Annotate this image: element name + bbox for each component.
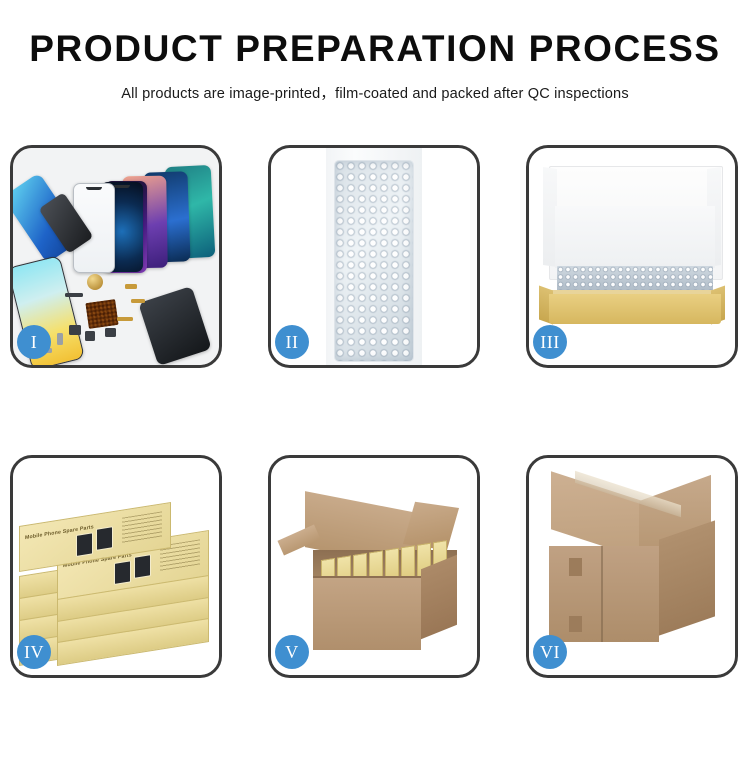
carton-tab-upper-icon <box>569 558 582 576</box>
step-badge-4: IV <box>17 635 51 669</box>
phone-back-housing-icon <box>138 286 212 365</box>
step-badge-5: V <box>275 635 309 669</box>
product-preparation-infographic: PRODUCT PREPARATION PROCESS All products… <box>0 0 750 750</box>
camera-module-icon <box>69 325 81 335</box>
flex-cable-icon <box>131 299 145 303</box>
process-step-panel-2: II <box>268 145 480 368</box>
button-part-icon <box>85 331 95 341</box>
box-front-panel-icon <box>549 294 721 324</box>
process-step-panel-3: III <box>526 145 738 368</box>
process-step-panel-6: VI <box>526 455 738 678</box>
process-step-panel-4: Mobile Phone Spare Parts Mobile Phone Sp… <box>10 455 222 678</box>
connector-icon <box>117 317 133 321</box>
page-title: PRODUCT PREPARATION PROCESS <box>0 30 750 69</box>
process-step-panel-5: V <box>268 455 480 678</box>
process-row-bottom: Mobile Phone Spare Parts Mobile Phone Sp… <box>10 455 740 678</box>
process-step-grid: I II <box>10 145 740 765</box>
protector-notch-icon <box>86 187 102 190</box>
phone-notch-icon <box>114 185 130 188</box>
step-badge-1: I <box>17 325 51 359</box>
foam-liner-icon <box>555 206 715 268</box>
box-phone-image-icon <box>96 526 113 551</box>
carton-tab-lower-icon <box>569 616 582 632</box>
sim-tray-icon <box>57 333 63 345</box>
carton-front-face-icon <box>549 546 659 642</box>
box-phone-image-icon <box>134 554 151 579</box>
step-badge-3: III <box>533 325 567 359</box>
process-row-top: I II <box>10 145 740 368</box>
carton-front-panel-icon <box>313 578 421 650</box>
box-phone-image-icon <box>76 532 93 557</box>
vibrator-icon <box>105 328 116 337</box>
small-part-icon <box>65 293 83 297</box>
step-badge-6: VI <box>533 635 567 669</box>
carton-side-panel-icon <box>659 520 715 635</box>
process-step-panel-1: I <box>10 145 222 368</box>
header: PRODUCT PREPARATION PROCESS All products… <box>0 0 750 103</box>
carton-right-side-icon <box>421 555 457 640</box>
box-phone-image-icon <box>114 560 131 585</box>
chip-board-icon <box>85 299 118 329</box>
carton-seam-icon <box>601 546 603 642</box>
speaker-coil-icon <box>87 274 103 290</box>
page-subtitle: All products are image-printed，film-coat… <box>0 82 750 103</box>
box-spec-lines-icon <box>122 511 162 543</box>
step-badge-2: II <box>275 325 309 359</box>
flex-cable-icon <box>125 284 137 289</box>
bubble-wrapped-product <box>334 160 414 362</box>
